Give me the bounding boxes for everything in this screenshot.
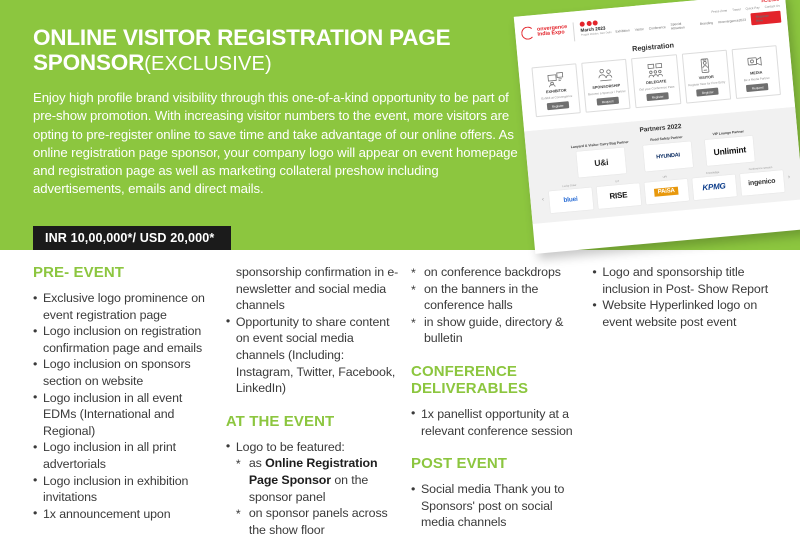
partner-logo-bluei: bluei xyxy=(548,187,593,213)
partner-cell[interactable]: Road Safety Partner HYUNDAI xyxy=(642,135,693,172)
partner-logo-text: Unlimint xyxy=(713,144,746,157)
logo-text: onvergence India Expo xyxy=(537,25,568,38)
partner-label: Lucky Draw xyxy=(562,184,576,188)
list-item: 1x announcement upon xyxy=(33,506,214,523)
column-post-event-continued: Logo and sponsorship title inclusion in … xyxy=(592,264,790,330)
logo-c-swoosh-icon xyxy=(521,26,535,40)
partner-logo-text: HYUNDAI xyxy=(656,152,680,160)
pre-event-list-continued: Opportunity to share content on event so… xyxy=(226,314,399,397)
conference-deliverables-list: 1x panellist opportunity at a relevant c… xyxy=(411,406,580,439)
list-item: Logo inclusion on registration confirmat… xyxy=(33,323,214,356)
list-item: Opportunity to share content on event so… xyxy=(226,314,399,397)
partner-logo-hyundai: HYUNDAI xyxy=(643,141,693,171)
partner-logo-kpmg: KPMG xyxy=(692,174,737,200)
card-subtitle: Become a Sponsor / Partner xyxy=(588,89,626,96)
page-title-suffix: (EXCLUSIVE) xyxy=(144,53,272,75)
list-item: Logo and sponsorship title inclusion in … xyxy=(592,264,778,297)
list-item: Logo inclusion on sponsors section on we… xyxy=(33,356,214,389)
top-link[interactable]: Contact Us xyxy=(764,4,780,9)
partner-label: IoT xyxy=(615,180,619,183)
pre-event-list: Exclusive logo prominence on event regis… xyxy=(33,290,214,522)
partner-logo-text: U&i xyxy=(594,157,609,168)
card-title: DELEGATE xyxy=(646,79,667,85)
column-pre-event: PRE- EVENT Exclusive logo prominence on … xyxy=(33,264,226,522)
card-button[interactable]: Register xyxy=(546,101,568,110)
header-divider xyxy=(573,22,576,41)
carousel-next-icon[interactable]: › xyxy=(788,175,791,181)
card-button[interactable]: Request xyxy=(746,83,768,92)
page-title: ONLINE VISITOR REGISTRATION PAGE SPONSOR… xyxy=(33,25,533,77)
card-subtitle: Register Now for Free Entry xyxy=(688,80,725,87)
sub-item-prefix: as xyxy=(249,456,265,470)
partner-cell[interactable]: IoT RISE xyxy=(596,178,641,208)
register-now-button[interactable]: Register Now xyxy=(750,11,781,26)
list-item: Social media Thank you to Sponsors' post… xyxy=(411,481,580,531)
partner-label: VIP Lounge Partner xyxy=(712,130,744,137)
sponsorship-brochure-page: ONLINE VISITOR REGISTRATION PAGE SPONSOR… xyxy=(0,0,800,558)
partner-logo-text: RISE xyxy=(609,190,628,201)
card-title: EXHIBITOR xyxy=(546,88,567,94)
card-title: MEDIA xyxy=(750,71,763,76)
card-title: VISITOR xyxy=(699,75,714,80)
delegate-icon xyxy=(646,61,665,79)
card-subtitle: Be a Media Partner xyxy=(744,76,770,82)
partner-logo-unlimint: Unlimint xyxy=(705,136,755,166)
partner-label: Knowledge xyxy=(706,171,720,175)
list-item: 1x panellist opportunity at a relevant c… xyxy=(411,406,580,439)
sponsorship-icon xyxy=(596,66,615,84)
media-icon xyxy=(746,52,765,70)
list-item: Logo to be featured: xyxy=(226,439,399,456)
partner-logo-ui: U&i xyxy=(576,147,626,177)
partner-logo-text: PAiSA xyxy=(653,186,679,196)
card-subtitle: Exhibit at Convergence xyxy=(541,94,572,101)
list-item: Logo inclusion in exhibition invitations xyxy=(33,473,214,506)
event-date-badge: March 2023 Pragati Maidan, New Delhi xyxy=(580,19,612,36)
deliverables-content: PRE- EVENT Exclusive logo prominence on … xyxy=(0,250,800,558)
registration-card-visitor[interactable]: VISITOR Register Now for Free Entry Regi… xyxy=(681,50,731,104)
logo-line-2: India Expo xyxy=(537,30,568,38)
sub-list-item: as Online Registration Page Sponsor on t… xyxy=(236,455,399,505)
nav-link[interactable]: Visitor xyxy=(635,27,644,32)
sub-list-item: in show guide, directory & bulletin xyxy=(411,314,580,347)
nav-link[interactable]: Special Attraction xyxy=(670,20,695,30)
card-button[interactable]: Register xyxy=(696,88,718,97)
partner-cell[interactable]: Knowledge KPMG xyxy=(691,170,736,200)
top-link[interactable]: Travel xyxy=(732,7,741,12)
partner-logo-text: bluei xyxy=(563,196,578,204)
nav-link[interactable]: Exhibition xyxy=(615,28,630,33)
list-item: Logo inclusion in all event EDMs (Intern… xyxy=(33,390,214,440)
card-button[interactable]: Register xyxy=(646,92,668,101)
partner-logo-rise: RISE xyxy=(596,183,641,209)
visitor-icon xyxy=(696,57,715,75)
partner-cell[interactable]: VIP Lounge Partner Unlimint xyxy=(704,129,755,166)
sub-list-item: on the banners in the conference halls xyxy=(411,281,580,314)
sub-list-item: on sponsor panels across the show floor xyxy=(236,505,399,538)
convergence-logo[interactable]: onvergence India Expo xyxy=(521,23,568,40)
top-link[interactable]: Quick Pay xyxy=(745,6,759,11)
nav-link[interactable]: Conference xyxy=(649,25,666,31)
at-the-event-sublist: as Online Registration Page Sponsor on t… xyxy=(236,455,399,538)
exhibitor-icon xyxy=(546,71,565,89)
section-heading-conference-deliverables: CONFERENCE DELIVERABLES xyxy=(411,363,580,397)
deliverables-columns: PRE- EVENT Exclusive logo prominence on … xyxy=(33,264,790,538)
card-button[interactable]: Request xyxy=(596,97,618,106)
at-the-event-list: Logo to be featured: xyxy=(226,439,399,456)
partner-cell[interactable]: Lanyard & Visitor Carry Bag Partner U&i xyxy=(571,140,632,178)
partner-cell[interactable]: Lucky Draw bluei xyxy=(548,183,593,213)
nav-link[interactable]: #convergence2023 xyxy=(718,18,746,25)
post-event-list-continued: Logo and sponsorship title inclusion in … xyxy=(592,264,778,330)
top-link[interactable]: Press Zone xyxy=(711,8,727,13)
partner-cell[interactable]: UPI PAiSA xyxy=(643,174,688,204)
registration-card-media[interactable]: MEDIA Be a Media Partner Request xyxy=(731,45,781,99)
partner-cell[interactable]: Conference session ingenico xyxy=(739,165,784,195)
registration-card-exhibitor[interactable]: EXHIBITOR Exhibit at Convergence Registe… xyxy=(531,63,581,117)
card-subtitle: Get your Conference Pass xyxy=(639,85,675,92)
nav-link[interactable]: Branding xyxy=(700,21,714,26)
registration-card-delegate[interactable]: DELEGATE Get your Conference Pass Regist… xyxy=(631,54,681,108)
hero-description: Enjoy high profile brand visibility thro… xyxy=(33,89,527,199)
carousel-prev-icon[interactable]: ‹ xyxy=(542,197,545,203)
partner-logo-paisa: PAiSA xyxy=(644,178,689,204)
section-heading-post-event: POST EVENT xyxy=(411,455,580,472)
list-item: Website Hyperlinked logo on event websit… xyxy=(592,297,778,330)
list-item: Logo inclusion in all print advertorials xyxy=(33,439,214,472)
post-event-list: Social media Thank you to Sponsors' post… xyxy=(411,481,580,531)
column-conference-post-event: on conference backdrops on the banners i… xyxy=(411,264,592,531)
list-item: Exclusive logo prominence on event regis… xyxy=(33,290,214,323)
partner-label: Road Safety Partner xyxy=(650,135,683,142)
at-the-event-sublist-continued: on conference backdrops on the banners i… xyxy=(411,264,580,347)
partner-logo-text: ingenico xyxy=(748,178,776,187)
list-item-continuation: sponsorship confirmation in e-newsletter… xyxy=(226,264,399,314)
partner-logo-ingenico: ingenico xyxy=(739,170,784,196)
registration-card-sponsorship[interactable]: SPONSORSHIP Become a Sponsor / Partner R… xyxy=(581,59,631,113)
website-preview-screenshot: #CI2023 onvergence India Expo March 2023… xyxy=(514,0,800,254)
hero-text-block: ONLINE VISITOR REGISTRATION PAGE SPONSOR… xyxy=(33,25,533,199)
partner-label: UPI xyxy=(663,176,668,179)
section-heading-at-the-event: AT THE EVENT xyxy=(226,413,399,430)
sub-list-item: on conference backdrops xyxy=(411,264,580,281)
partner-logo-text: KPMG xyxy=(702,181,726,192)
section-heading-pre-event: PRE- EVENT xyxy=(33,264,214,281)
column-at-the-event: sponsorship confirmation in e-newsletter… xyxy=(226,264,411,538)
price-badge: INR 10,00,000*/ USD 20,000* xyxy=(33,226,231,250)
